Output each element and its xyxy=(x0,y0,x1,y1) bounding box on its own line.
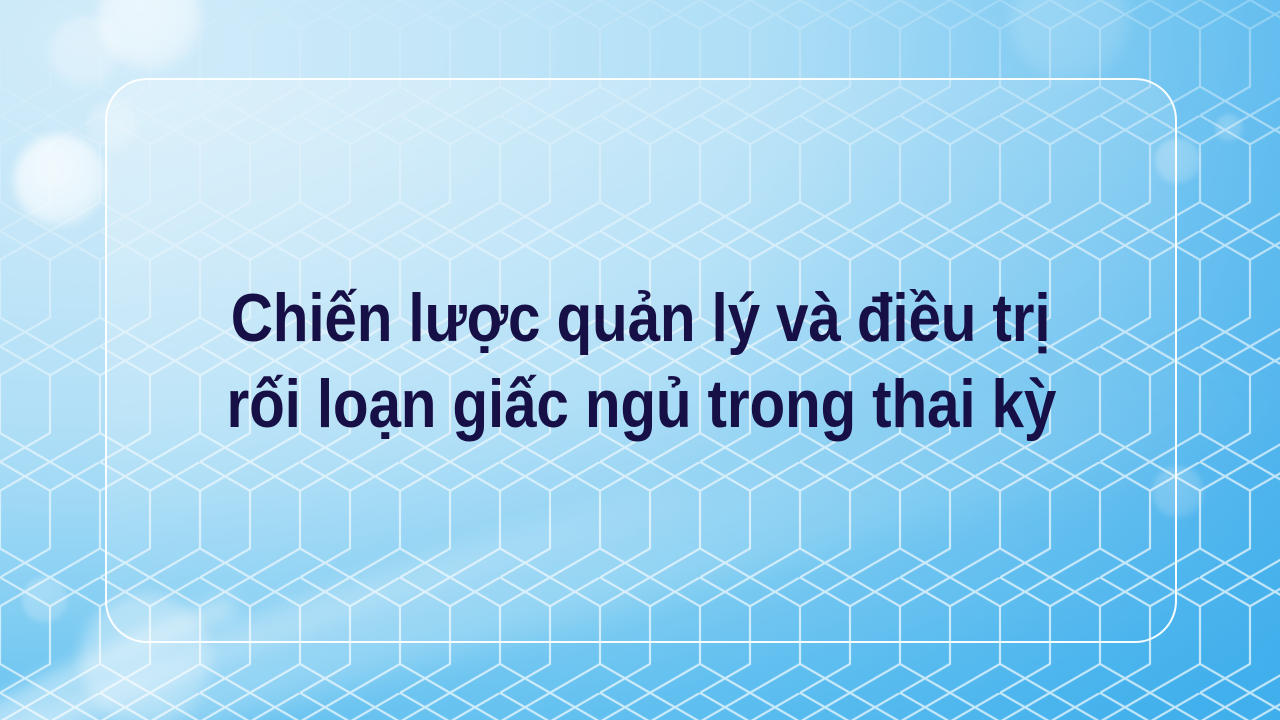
title-line-1: Chiến lược quản lý và điều trị xyxy=(231,275,1051,361)
title-line-2: rối loạn giấc ngủ trong thai kỳ xyxy=(226,361,1056,447)
title-block: Chiến lược quản lý và điều trị rối loạn … xyxy=(105,78,1177,643)
slide-canvas: Chiến lược quản lý và điều trị rối loạn … xyxy=(0,0,1280,720)
